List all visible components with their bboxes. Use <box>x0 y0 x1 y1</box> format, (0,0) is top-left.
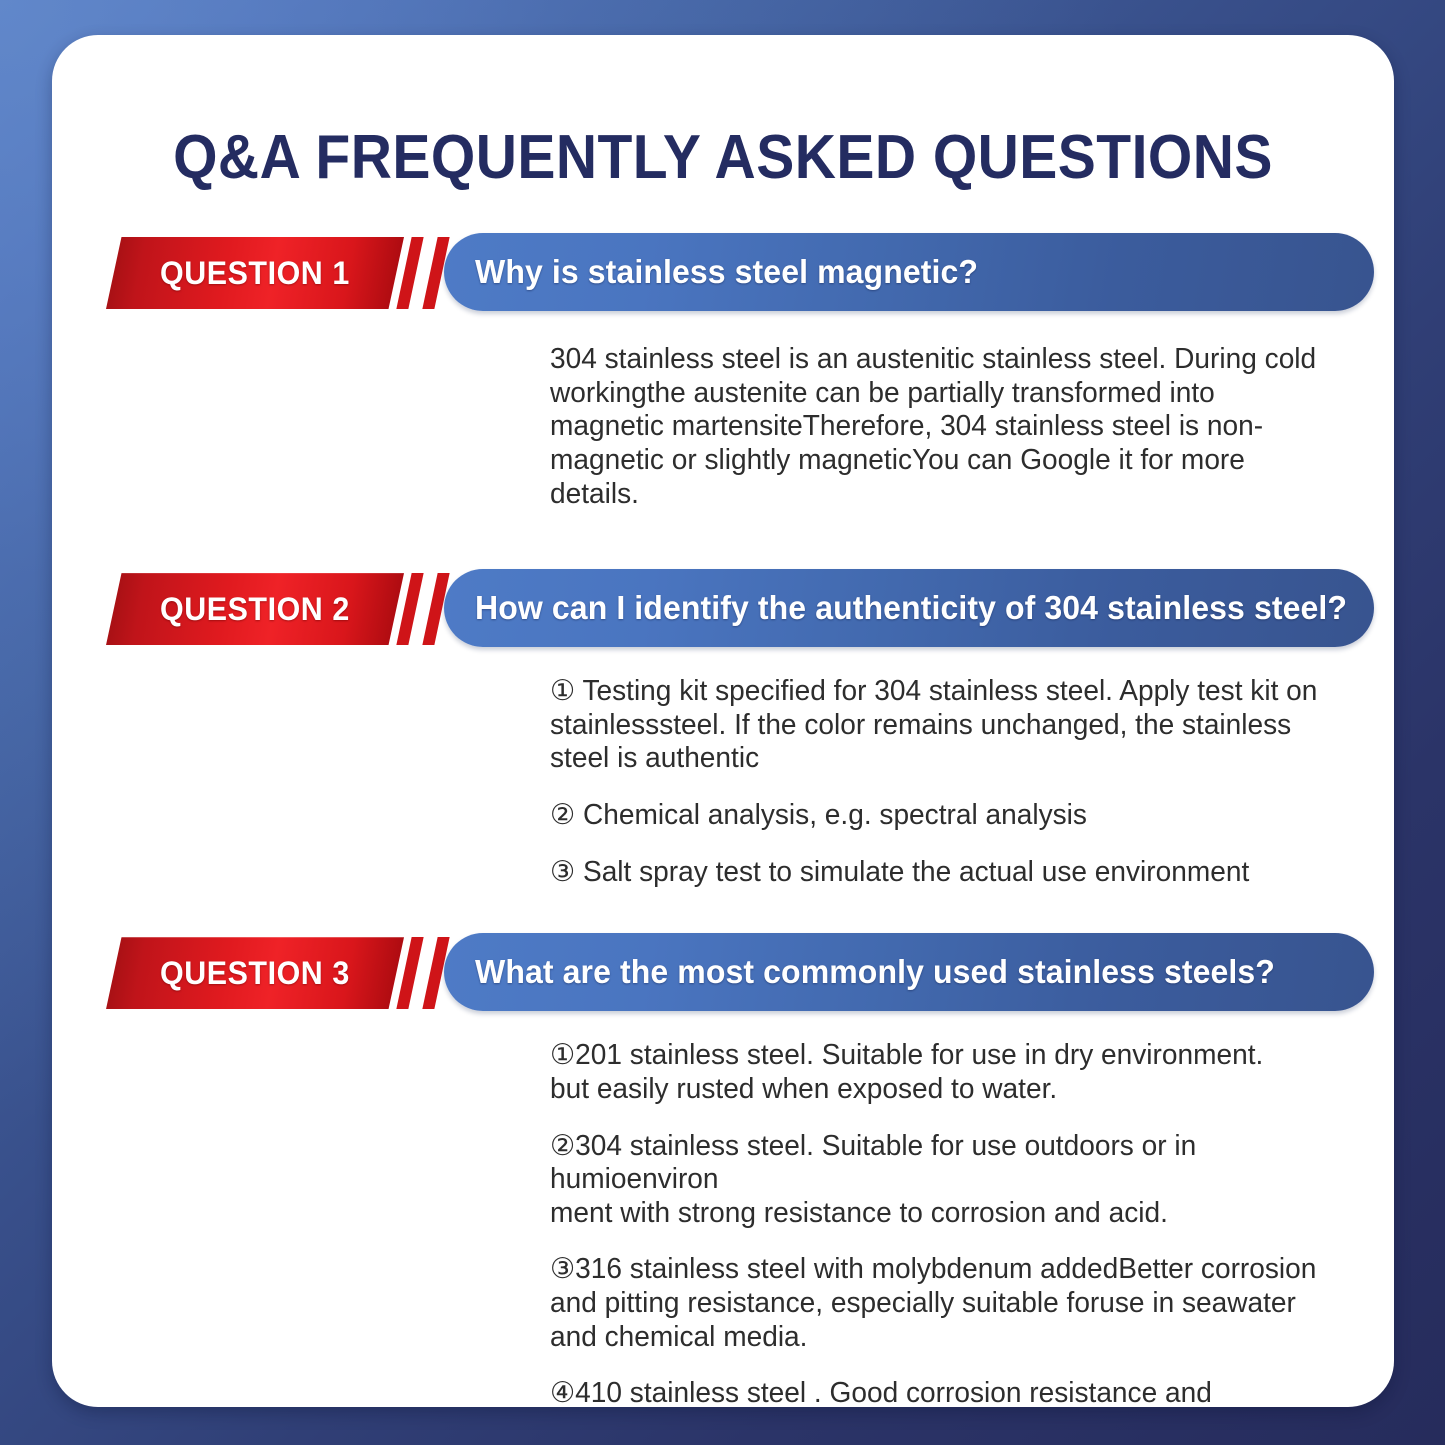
faq-item-3: QUESTION 3 What are the most commonly us… <box>52 933 1394 1407</box>
question-pill-2[interactable]: How can I identify the authenticity of 3… <box>444 569 1374 647</box>
answer-paragraph: 304 stainless steel is an austenitic sta… <box>550 343 1324 511</box>
question-header-2[interactable]: QUESTION 2 How can I identify the authen… <box>106 569 1374 647</box>
faq-item-1: QUESTION 1 Why is stainless steel magnet… <box>52 233 1394 511</box>
answer-paragraph: ② Chemical analysis, e.g. spectral analy… <box>550 799 1324 833</box>
question-tag-1: QUESTION 1 <box>106 237 404 309</box>
question-tag-label-2: QUESTION 2 <box>160 591 350 628</box>
answer-paragraph: ③ Salt spray test to simulate the actual… <box>550 856 1324 890</box>
answer-paragraph: ④410 stainless steel . Good corrosion re… <box>550 1377 1324 1407</box>
answer-paragraph: ③316 stainless steel with molybdenum add… <box>550 1253 1324 1354</box>
page-title: Q&A FREQUENTLY ASKED QUESTIONS <box>106 127 1341 189</box>
question-tag-label-3: QUESTION 3 <box>160 955 350 992</box>
slash-stroke-first <box>396 937 423 1009</box>
slash-stroke-first <box>396 573 423 645</box>
slash-stroke-first <box>396 237 423 309</box>
answer-block-1: 304 stainless steel is an austenitic sta… <box>550 311 1324 511</box>
question-pill-3[interactable]: What are the most commonly used stainles… <box>444 933 1374 1011</box>
answer-block-3: ①201 stainless steel. Suitable for use i… <box>550 1011 1324 1407</box>
page-background: Q&A FREQUENTLY ASKED QUESTIONS QUESTION … <box>0 0 1445 1445</box>
spacer-q1-q2 <box>52 511 1394 569</box>
answer-paragraph: ①201 stainless steel. Suitable for use i… <box>550 1039 1324 1106</box>
faq-item-2: QUESTION 2 How can I identify the authen… <box>52 569 1394 889</box>
answer-block-2: ① Testing kit specified for 304 stainles… <box>550 647 1324 889</box>
faq-card: Q&A FREQUENTLY ASKED QUESTIONS QUESTION … <box>52 35 1394 1407</box>
faq-list: QUESTION 1 Why is stainless steel magnet… <box>52 233 1394 1407</box>
question-text-2: How can I identify the authenticity of 3… <box>444 589 1370 627</box>
question-header-1[interactable]: QUESTION 1 Why is stainless steel magnet… <box>106 233 1374 311</box>
question-tag-3: QUESTION 3 <box>106 937 404 1009</box>
question-tag-2: QUESTION 2 <box>106 573 404 645</box>
question-tag-label-1: QUESTION 1 <box>160 255 350 292</box>
question-text-1: Why is stainless steel magnetic? <box>444 253 1001 291</box>
answer-paragraph: ① Testing kit specified for 304 stainles… <box>550 675 1324 776</box>
question-header-3[interactable]: QUESTION 3 What are the most commonly us… <box>106 933 1374 1011</box>
answer-paragraph: ②304 stainless steel. Suitable for use o… <box>550 1130 1324 1231</box>
question-pill-1[interactable]: Why is stainless steel magnetic? <box>444 233 1374 311</box>
question-text-3: What are the most commonly used stainles… <box>444 953 1298 991</box>
spacer-q2-q3 <box>52 889 1394 933</box>
